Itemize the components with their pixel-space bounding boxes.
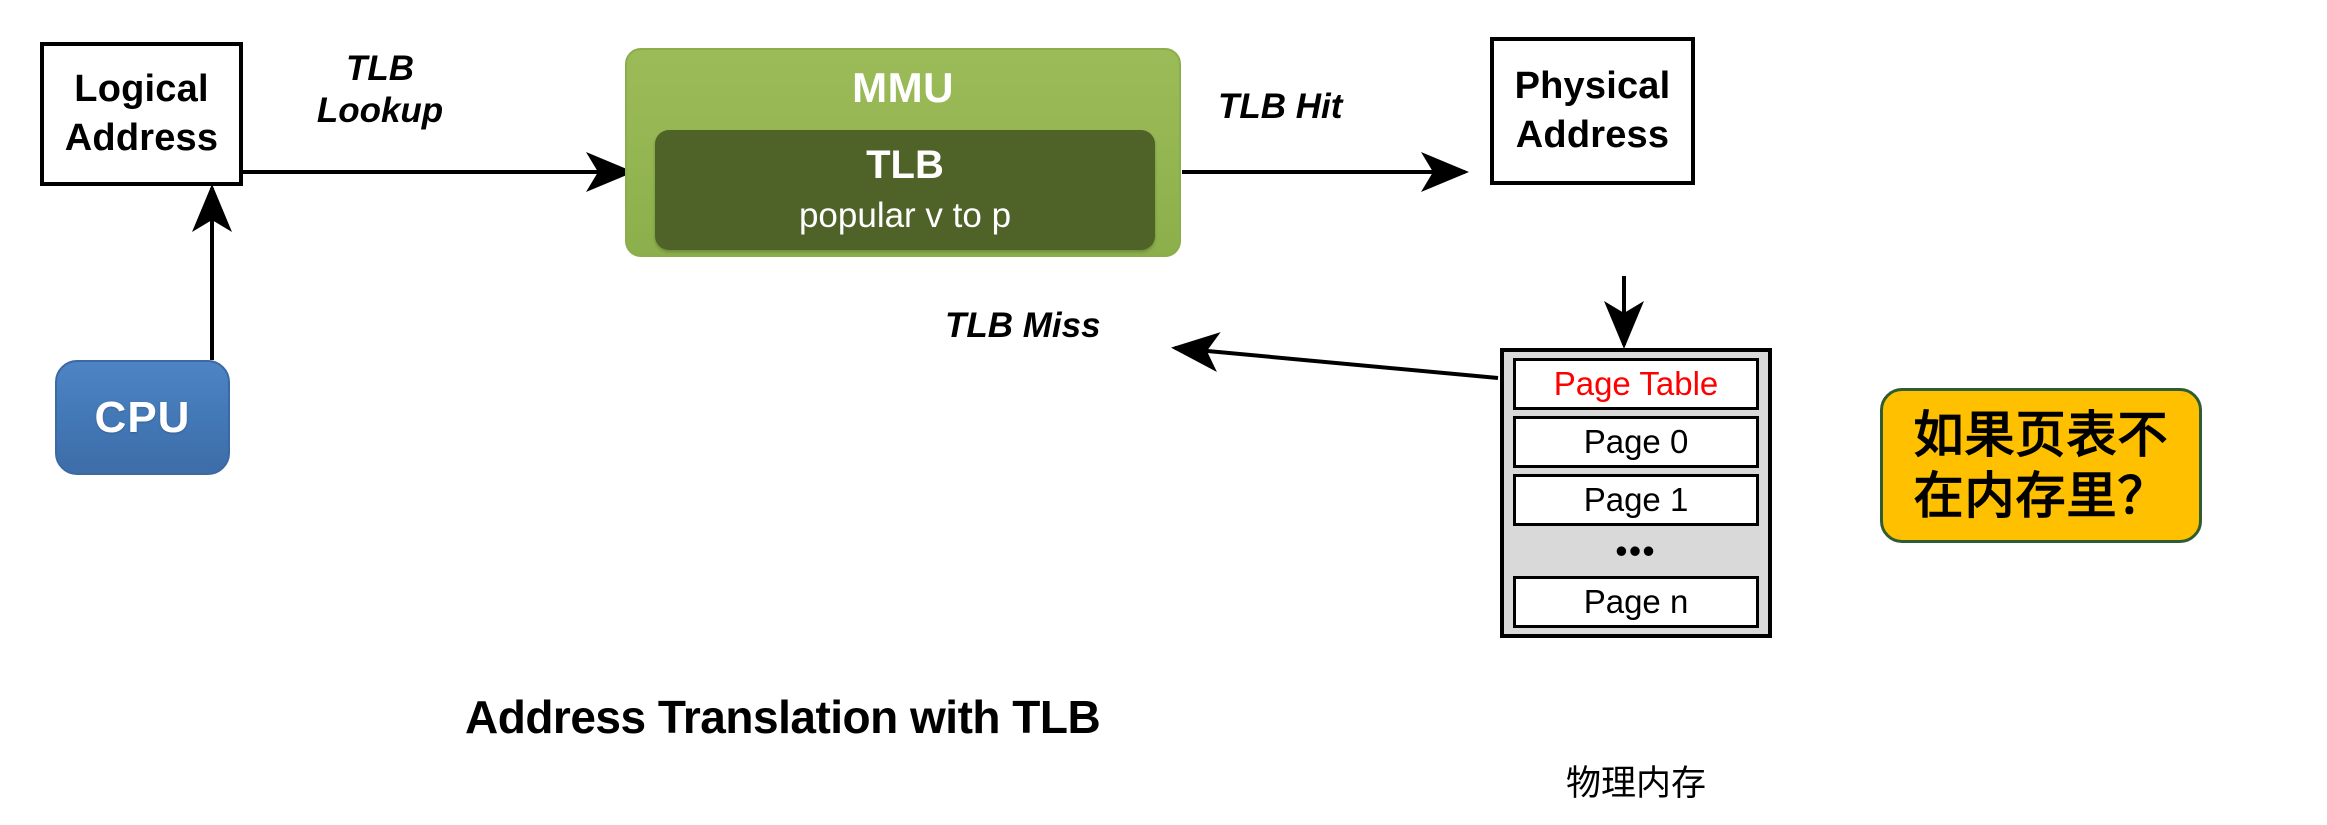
callout-line1: 如果页表不 [1914,405,2169,466]
physical-memory-caption: 物理内存 [1500,755,1772,806]
physical-address-line2: Address [1516,111,1669,160]
tlb-title: TLB [866,142,944,189]
cpu-label: CPU [95,393,191,443]
physical-address-line1: Physical [1515,62,1671,111]
memory-ellipsis: ••• [1513,532,1759,570]
tlb-hit-text: TLB Hit [1218,87,1342,126]
figure-title: Address Translation with TLB [465,690,1100,744]
callout-box: 如果页表不 在内存里？ [1880,388,2202,543]
memory-cell-page-1[interactable]: Page 1 [1513,474,1759,526]
edge-label-tlb-miss: TLB Miss [945,305,1101,347]
memory-cell-page-0[interactable]: Page 0 [1513,416,1759,468]
callout-line2: 在内存里？ [1914,466,2169,527]
arrow-pagetable-to-mmu [1175,348,1498,378]
physical-memory-stack: Page Table Page 0 Page 1 ••• Page n [1500,348,1772,638]
logical-address-line1: Logical [74,65,208,114]
diagram-canvas: Logical Address CPU TLB Lookup MMU TLB p… [0,0,2327,825]
memory-cell-page-n[interactable]: Page n [1513,576,1759,628]
tlb-miss-text: TLB Miss [945,306,1101,345]
tlb-lookup-line2: Lookup [290,90,470,132]
edge-label-tlb-hit: TLB Hit [1218,86,1342,128]
physical-address-box: Physical Address [1490,37,1695,185]
tlb-box: TLB popular v to p [655,130,1155,250]
edge-label-tlb-lookup: TLB Lookup [290,48,470,132]
tlb-subtitle: popular v to p [799,193,1011,239]
cpu-box: CPU [55,360,230,475]
logical-address-box: Logical Address [40,42,243,186]
memory-cell-page-table[interactable]: Page Table [1513,358,1759,410]
logical-address-line2: Address [65,114,218,163]
mmu-box: MMU TLB popular v to p [625,48,1181,257]
tlb-lookup-line1: TLB [290,48,470,90]
mmu-title: MMU [627,64,1179,112]
